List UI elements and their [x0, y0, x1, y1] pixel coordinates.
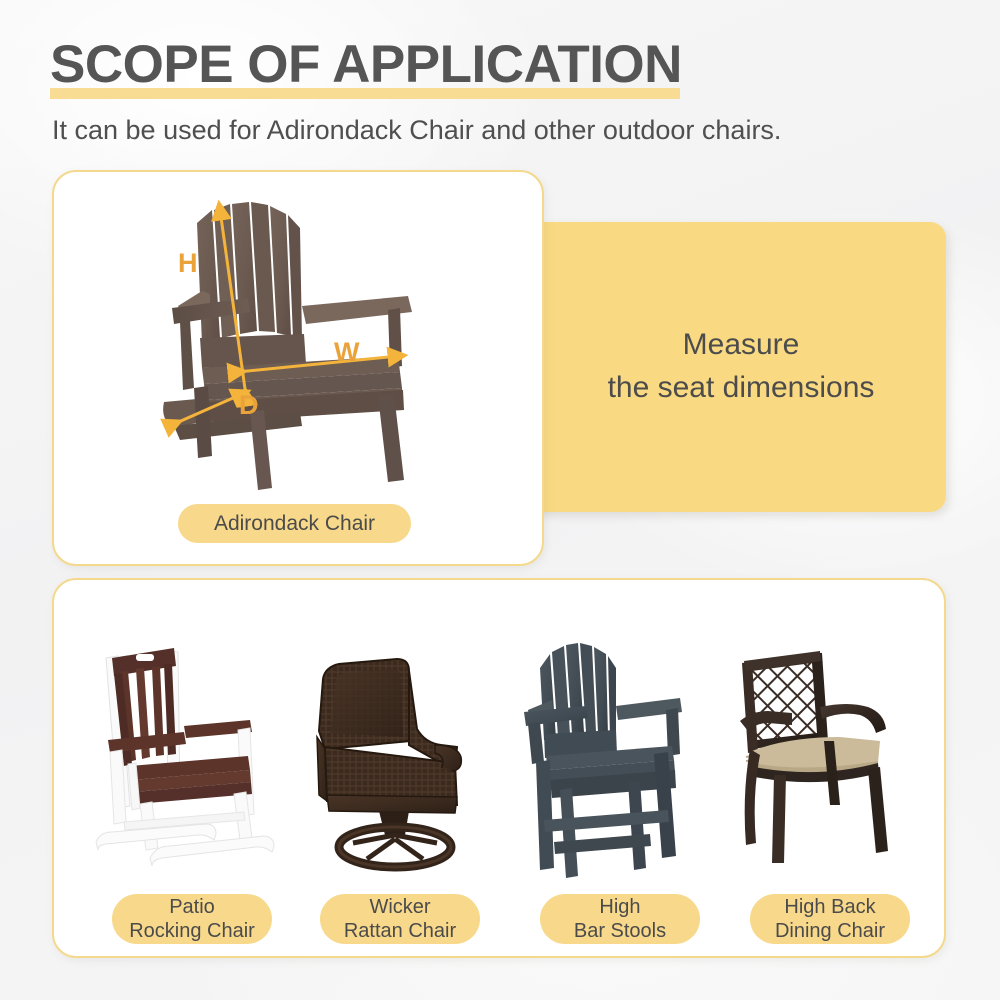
label-wicker-rattan-chair: Wicker Rattan Chair: [320, 894, 480, 944]
dimension-arrows-overlay: [150, 188, 460, 498]
page-subtitle: It can be used for Adirondack Chair and …: [52, 112, 781, 148]
wicker-label-line-2: Rattan Chair: [344, 920, 456, 942]
stool-label-line-2: Bar Stools: [574, 920, 666, 942]
dimension-label-width: W: [334, 337, 359, 368]
label-high-bar-stools: High Bar Stools: [540, 894, 700, 944]
wicker-label-line-1: Wicker: [369, 896, 430, 918]
rocking-label-line-1: Patio: [169, 896, 215, 918]
rocking-label-line-2: Rocking Chair: [129, 920, 255, 942]
dining-label-line-1: High Back: [784, 896, 875, 918]
measure-line-1: Measure: [542, 324, 940, 367]
label-adirondack-chair: Adirondack Chair: [178, 504, 411, 543]
label-patio-rocking-chair: Patio Rocking Chair: [112, 894, 272, 944]
dining-chair-icon: [728, 645, 918, 880]
dining-label-line-2: Dining Chair: [775, 920, 885, 942]
infographic-page: SCOPE OF APPLICATION It can be used for …: [0, 0, 1000, 1000]
dimension-label-height: H: [178, 248, 198, 279]
measure-line-2: the seat dimensions: [542, 367, 940, 410]
bar-stool-icon: [520, 630, 710, 880]
stool-label-line-1: High: [599, 896, 640, 918]
dimension-label-depth: D: [239, 390, 259, 421]
measure-panel-text: Measure the seat dimensions: [542, 324, 946, 409]
rocking-chair-icon: [88, 636, 298, 876]
page-title: SCOPE OF APPLICATION: [50, 38, 682, 91]
wicker-rattan-chair-icon: [305, 645, 505, 875]
label-high-back-dining-chair: High Back Dining Chair: [750, 894, 910, 944]
